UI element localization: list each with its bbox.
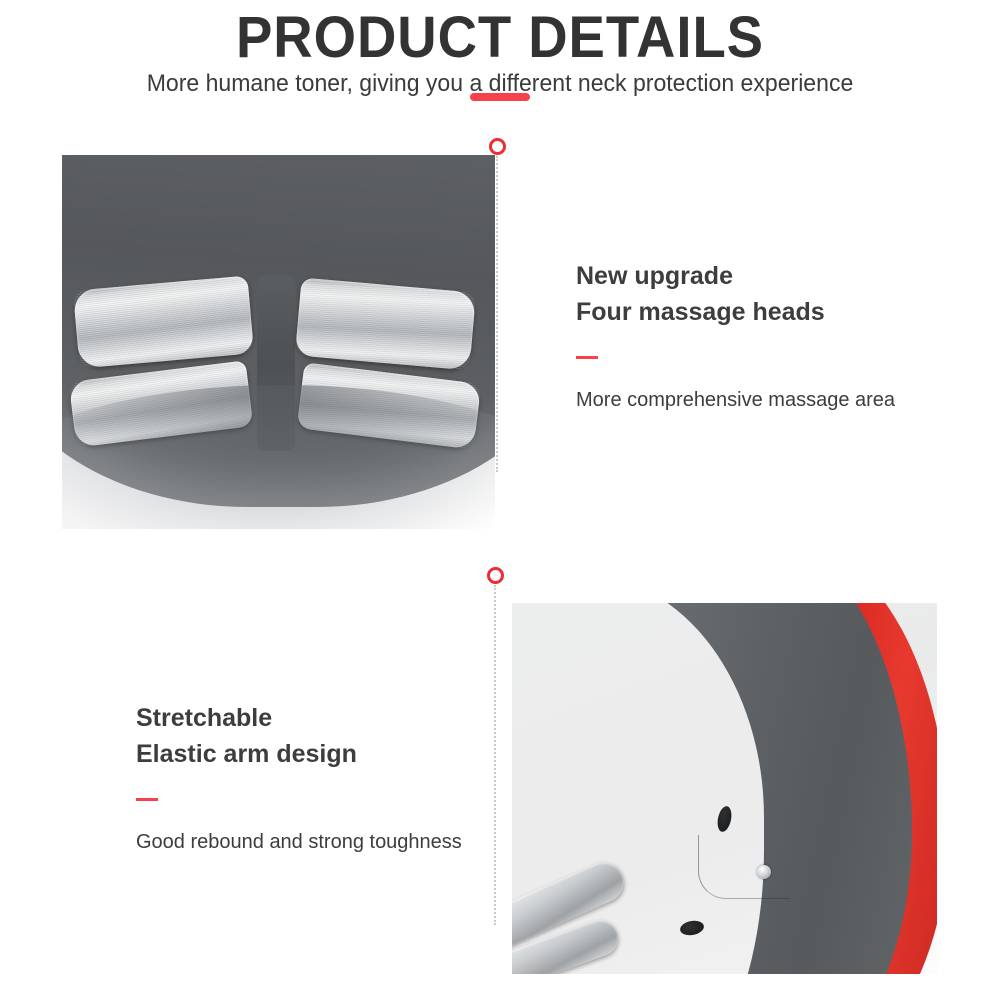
arm-hinge-seam xyxy=(698,835,790,899)
product-photo-elastic-arm xyxy=(512,603,937,1000)
page-title: PRODUCT DETAILS xyxy=(30,8,970,68)
device-drop-shadow xyxy=(62,385,495,529)
page-header: PRODUCT DETAILS More humane toner, givin… xyxy=(0,0,1000,130)
arm-hinge-screw xyxy=(757,865,771,879)
feature-description: More comprehensive massage area xyxy=(576,387,976,413)
feature-heading-line1: New upgrade xyxy=(576,258,976,294)
feature-heading-line2: Elastic arm design xyxy=(136,736,536,772)
feature-heading-line2: Four massage heads xyxy=(576,294,976,330)
photo-bottom-fade xyxy=(512,974,937,1000)
massage-head-top-right xyxy=(295,278,476,371)
feature-block-four-massage-heads: New upgrade Four massage heads More comp… xyxy=(576,258,976,413)
product-photo-massage-heads xyxy=(62,155,495,529)
title-accent-bar xyxy=(470,93,530,101)
connector-dotted-line-top xyxy=(496,156,498,472)
feature-block-elastic-arm-design: Stretchable Elastic arm design Good rebo… xyxy=(136,700,536,855)
feature-dash-separator xyxy=(136,798,158,801)
connector-dot-icon-top xyxy=(489,138,506,155)
feature-heading-line1: Stretchable xyxy=(136,700,536,736)
connector-dot-icon-bottom xyxy=(487,567,504,584)
massage-head-top-left xyxy=(73,276,254,369)
feature-description: Good rebound and strong toughness xyxy=(136,829,536,855)
feature-dash-separator xyxy=(576,356,598,359)
